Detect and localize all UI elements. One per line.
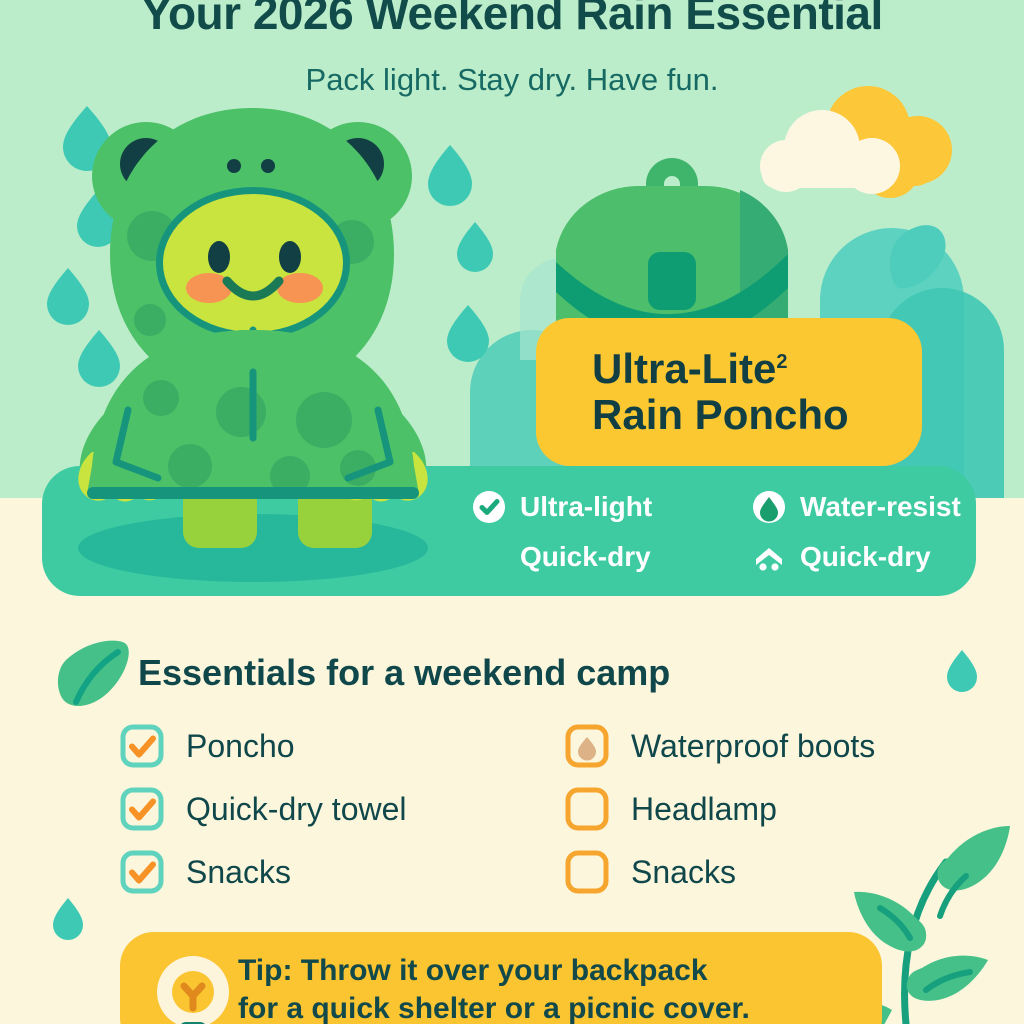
checkbox-checked[interactable]	[120, 787, 164, 831]
product-badge: Ultra-Lite2 Rain Poncho	[536, 318, 922, 466]
checklist-item-label: Quick-dry towel	[186, 791, 407, 828]
checkbox-unchecked[interactable]	[565, 787, 609, 831]
checklist-item-label: Waterproof boots	[631, 728, 875, 765]
product-superscript: 2	[776, 351, 787, 373]
checklist-item-label: Snacks	[186, 854, 291, 891]
checklist-item-label: Poncho	[186, 728, 295, 765]
tip-line-2: for a quick shelter or a picnic cover.	[238, 990, 868, 1024]
leaf-icon	[58, 641, 129, 706]
checkbox-unchecked[interactable]	[565, 850, 609, 894]
checkbox-checked[interactable]	[120, 850, 164, 894]
checkbox-checked[interactable]	[120, 724, 164, 768]
tip-line-1: Tip: Throw it over your backpack	[238, 952, 868, 990]
checklist-item[interactable]: Waterproof boots	[565, 724, 1000, 768]
tip-banner: Tip: Throw it over your backpack for a q…	[120, 932, 882, 1024]
checklist: Poncho Waterproof boots Quick-dry towel	[120, 724, 1000, 894]
section-heading: Essentials for a weekend camp	[138, 652, 670, 694]
checklist-item-label: Snacks	[631, 854, 736, 891]
checklist-item[interactable]: Snacks	[120, 850, 565, 894]
page-subtitle: Pack light. Stay dry. Have fun.	[0, 62, 1024, 98]
page-title: Your 2026 Weekend Rain Essential	[0, 0, 1024, 40]
product-name-line-2: Rain Poncho	[592, 391, 922, 438]
lightbulb-icon	[150, 946, 236, 1024]
checklist-item[interactable]: Headlamp	[565, 787, 1000, 831]
product-name-line-1: Ultra-Lite2	[592, 346, 922, 391]
checklist-item[interactable]: Poncho	[120, 724, 565, 768]
tip-text: Tip: Throw it over your backpack for a q…	[238, 952, 868, 1024]
checklist-item-label: Headlamp	[631, 791, 777, 828]
checklist-item[interactable]: Snacks	[565, 850, 1000, 894]
checkbox-unchecked[interactable]	[565, 724, 609, 768]
product-name: Ultra-Lite	[592, 345, 776, 392]
checklist-item[interactable]: Quick-dry towel	[120, 787, 565, 831]
poster-root: Your 2026 Weekend Rain Essential Pack li…	[0, 0, 1024, 1024]
